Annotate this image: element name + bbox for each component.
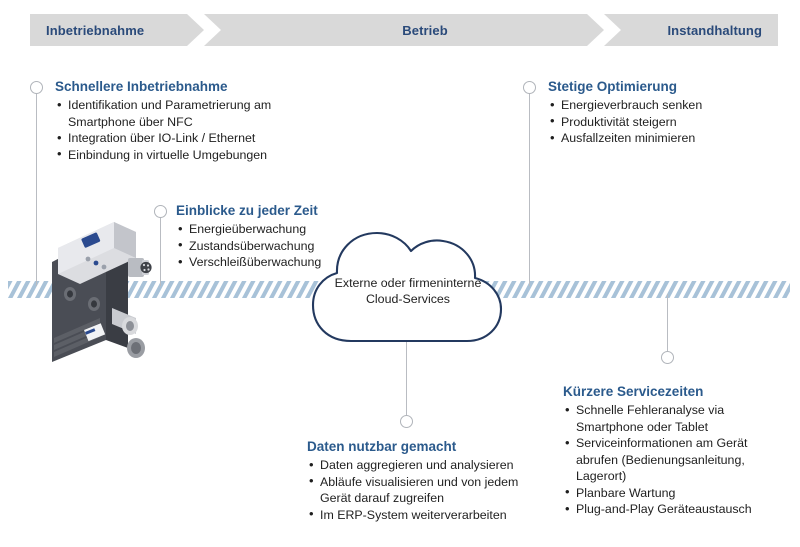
- connector-line-top-right: [529, 88, 530, 286]
- block-schnellere-inbetriebnahme: Schnellere Inbetriebnahme Identifikation…: [55, 78, 310, 163]
- ring-marker-bottom-right: [661, 351, 674, 364]
- phase-label-instandhaltung: Instandhaltung: [667, 23, 762, 38]
- list-item: Ausfallzeiten minimieren: [548, 130, 783, 147]
- block-einblicke-zu-jeder-zeit: Einblicke zu jeder Zeit Energieüberwachu…: [176, 202, 391, 271]
- list-item: Energieverbrauch senken: [548, 97, 783, 114]
- list-item: Plug-and-Play Geräteaustausch: [563, 501, 788, 518]
- block-kuerzere-servicezeiten: Kürzere Servicezeiten Schnelle Fehlerana…: [563, 383, 788, 518]
- connector-line-bottom-right: [667, 294, 668, 352]
- block-stetige-optimierung: Stetige Optimierung Energieverbrauch sen…: [548, 78, 783, 147]
- list-item: Identifikation und Parametrierung am Sma…: [55, 97, 310, 130]
- phase-header-bar: Inbetriebnahme Betrieb Instandhaltung: [30, 14, 778, 46]
- block-list-bottom-center: Daten aggregieren und analysieren Abläuf…: [307, 457, 542, 523]
- chevron-separator-1: [187, 14, 221, 46]
- cloud-label-line2: Cloud-Services: [318, 291, 498, 307]
- chevron-separator-2: [587, 14, 621, 46]
- list-item: Planbare Wartung: [563, 485, 788, 502]
- cloud-label: Externe oder firmeninterne Cloud-Service…: [318, 275, 498, 307]
- connector-line-top-left: [36, 88, 37, 286]
- list-item: Serviceinformationen am Gerät abrufen (B…: [563, 435, 788, 485]
- infographic-canvas: Inbetriebnahme Betrieb Instandhaltung: [0, 0, 800, 547]
- phase-segment-instandhaltung: Instandhaltung: [620, 14, 778, 46]
- cloud-label-line1: Externe oder firmeninterne: [318, 275, 498, 291]
- block-daten-nutzbar-gemacht: Daten nutzbar gemacht Daten aggregieren …: [307, 438, 542, 523]
- block-title-bottom-center: Daten nutzbar gemacht: [307, 438, 542, 455]
- list-item: Integration über IO-Link / Ethernet: [55, 130, 310, 147]
- block-title-top-right: Stetige Optimierung: [548, 78, 783, 95]
- ring-marker-bottom-center: [400, 415, 413, 428]
- ring-marker-top-left: [30, 81, 43, 94]
- block-title-bottom-right: Kürzere Servicezeiten: [563, 383, 788, 400]
- block-list-top-left: Identifikation und Parametrierung am Sma…: [55, 97, 310, 163]
- block-list-mid-left: Energieüberwachung Zustandsüberwachung V…: [176, 221, 391, 271]
- list-item: Verschleißüberwachung: [176, 254, 391, 271]
- list-item: Einbindung in virtuelle Umgebungen: [55, 147, 310, 164]
- list-item: Daten aggregieren und analysieren: [307, 457, 542, 474]
- list-item: Abläufe visualisieren und von jedem Gerä…: [307, 474, 542, 507]
- phase-label-inbetriebnahme: Inbetriebnahme: [46, 23, 144, 38]
- block-title-top-left: Schnellere Inbetriebnahme: [55, 78, 310, 95]
- block-list-bottom-right: Schnelle Fehleranalyse via Smartphone od…: [563, 402, 788, 518]
- phase-label-betrieb: Betrieb: [402, 23, 448, 38]
- list-item: Zustandsüberwachung: [176, 238, 391, 255]
- block-title-mid-left: Einblicke zu jeder Zeit: [176, 202, 391, 219]
- list-item: Produktivität steigern: [548, 114, 783, 131]
- block-list-top-right: Energieverbrauch senken Produktivität st…: [548, 97, 783, 147]
- list-item: Energieüberwachung: [176, 221, 391, 238]
- phase-segment-betrieb: Betrieb: [230, 14, 620, 46]
- ring-marker-top-right: [523, 81, 536, 94]
- list-item: Schnelle Fehleranalyse via Smartphone od…: [563, 402, 788, 435]
- ring-marker-mid-left: [154, 205, 167, 218]
- vacuum-ejector-device-image: [44, 222, 166, 362]
- list-item: Im ERP-System weiterverarbeiten: [307, 507, 542, 524]
